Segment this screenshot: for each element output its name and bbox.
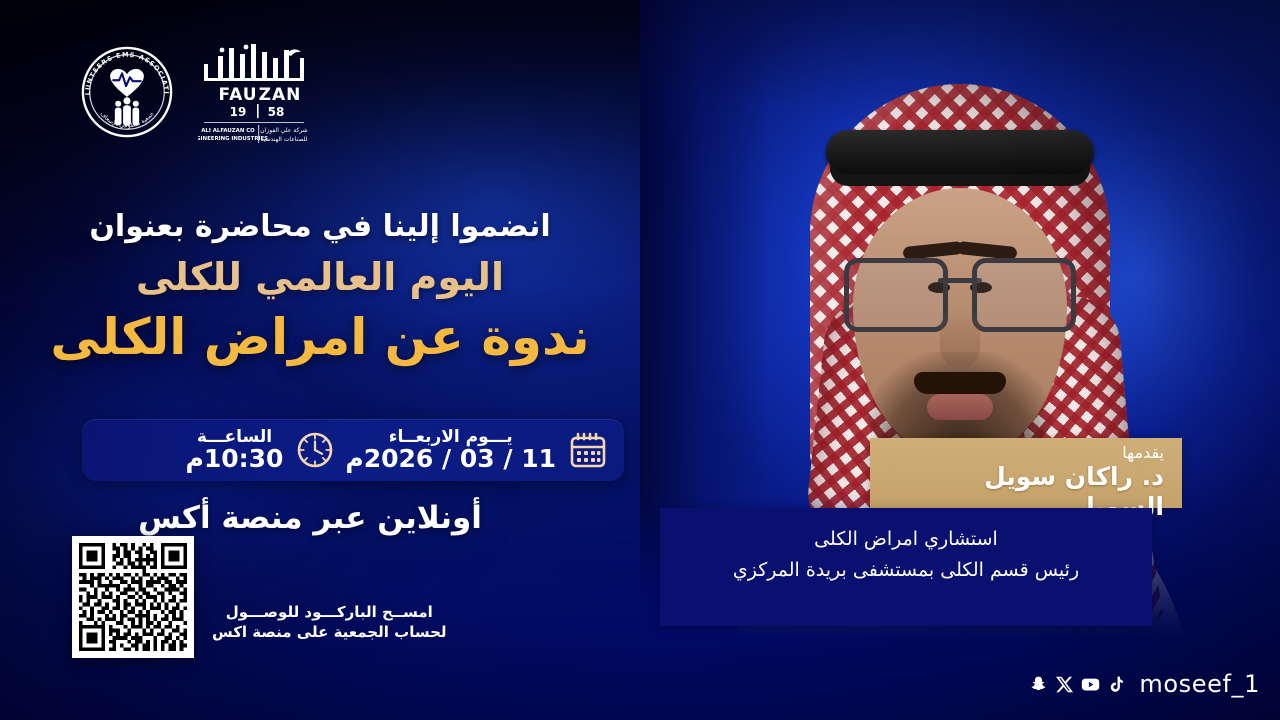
speaker-role-line2: رئيس قسم الكلى بمستشفى بريدة المركزي <box>686 555 1126 586</box>
qr-code-image <box>79 543 187 651</box>
schedule-date: يـــوم الاربعــاء 11 / 03 / 2026م <box>345 428 608 473</box>
svg-text:للصناعات الهندسية: للصناعات الهندسية <box>261 136 308 143</box>
subtitle: اليوم العالمي للكلى <box>0 257 640 299</box>
svg-text:ZAN: ZAN <box>259 85 302 105</box>
fauzan-logo: FAU ZAN 19 58 ALI ALFAUZAN CO ENGINEERIN… <box>198 34 310 150</box>
svg-text:شركة علي الفوزان: شركة علي الفوزان <box>260 127 307 134</box>
schedule-time-text: الساعـــة 10:30م <box>185 428 283 473</box>
tagline: انضموا إلينا في محاضرة بعنوان <box>0 210 640 243</box>
calendar-icon <box>568 430 608 470</box>
qr-caption-line1: امســح الباركـــود للوصـــول <box>212 603 447 623</box>
social-footer: moseef_1 <box>1029 670 1260 698</box>
speaker-role-panel: استشاري امراض الكلى رئيس قسم الكلى بمستش… <box>660 508 1152 626</box>
svg-text:58: 58 <box>268 105 285 119</box>
headline-block: انضموا إلينا في محاضرة بعنوان اليوم العا… <box>0 210 640 365</box>
presented-by-label: يقدمها <box>888 444 1164 462</box>
svg-text:ALI ALFAUZAN CO: ALI ALFAUZAN CO <box>201 128 255 134</box>
logo-row: FAU ZAN 19 58 ALI ALFAUZAN CO ENGINEERIN… <box>78 34 310 150</box>
snapchat-icon[interactable] <box>1029 675 1048 694</box>
social-handle[interactable]: moseef_1 <box>1139 670 1260 698</box>
online-platform-text: أونلاين عبر منصة أكس <box>0 500 620 536</box>
speaker-role-line1: استشاري امراض الكلى <box>686 524 1126 555</box>
clock-icon <box>295 430 335 470</box>
tiktok-icon[interactable] <box>1107 675 1126 694</box>
qr-caption-line2: لحساب الجمعية على منصة اكس <box>212 623 447 643</box>
poster-canvas: FAU ZAN 19 58 ALI ALFAUZAN CO ENGINEERIN… <box>0 0 1280 720</box>
volunteers-ems-association-logo: VOLUNTEERS EMS ASSOCIATION جمعية متطوعي … <box>78 43 176 141</box>
qr-code[interactable] <box>72 536 194 658</box>
schedule-bar: يـــوم الاربعــاء 11 / 03 / 2026م الساعـ… <box>82 419 624 481</box>
svg-text:FAU: FAU <box>218 85 257 105</box>
speaker-name-panel: يقدمها د. راكان سويل السويل <box>870 438 1182 508</box>
svg-text:19: 19 <box>230 105 247 119</box>
youtube-icon[interactable] <box>1081 675 1100 694</box>
schedule-date-value: 11 / 03 / 2026م <box>345 446 556 473</box>
x-twitter-icon[interactable] <box>1055 675 1074 694</box>
page-title: ندوة عن امراض الكلى <box>0 309 640 365</box>
schedule-time-value: 10:30م <box>185 446 283 473</box>
schedule-time: الساعـــة 10:30م <box>98 428 345 473</box>
qr-block: امســح الباركـــود للوصـــول لحساب الجمع… <box>72 536 447 658</box>
schedule-date-text: يـــوم الاربعــاء 11 / 03 / 2026م <box>345 428 556 473</box>
qr-caption: امســح الباركـــود للوصـــول لحساب الجمع… <box>212 551 447 643</box>
svg-text:ENGINEERING INDUSTRIES: ENGINEERING INDUSTRIES <box>198 136 268 142</box>
